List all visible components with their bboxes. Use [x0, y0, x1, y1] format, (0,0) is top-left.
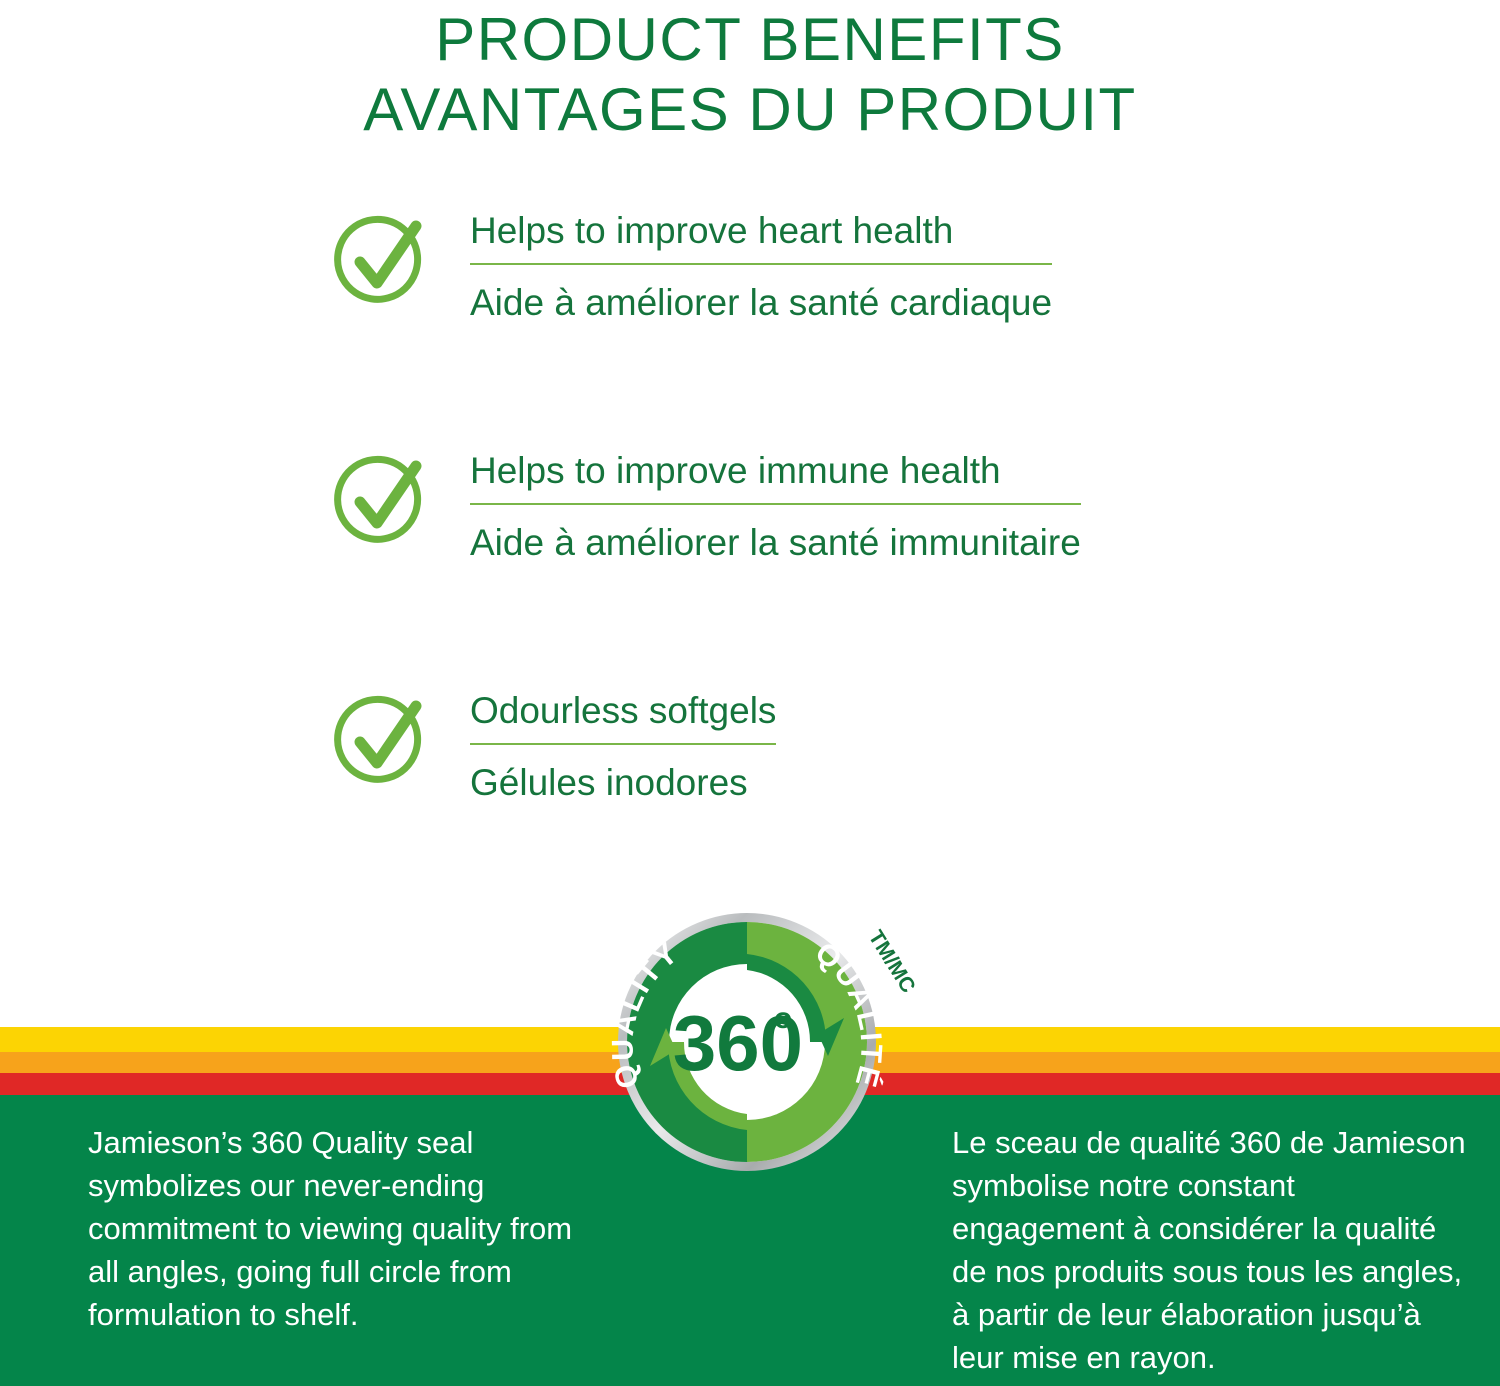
check-circle-icon	[330, 690, 435, 795]
benefit-label-en: Odourless softgels	[470, 685, 776, 739]
benefit-divider	[470, 743, 776, 745]
benefit-divider	[470, 263, 1052, 265]
page-title: PRODUCT BENEFITS AVANTAGES DU PRODUIT	[0, 0, 1500, 145]
title-french: AVANTAGES DU PRODUIT	[0, 75, 1500, 145]
benefit-label-fr: Gélules inodores	[470, 751, 776, 809]
benefit-label-en: Helps to improve immune health	[470, 445, 1081, 499]
quality-360-seal: QUALITY QUALITÉ 360 o TM/MC	[596, 910, 898, 1174]
check-circle-icon	[330, 210, 435, 315]
benefits-list: Helps to improve heart health Aide à amé…	[330, 205, 1430, 925]
product-benefits-infographic: PRODUCT BENEFITS AVANTAGES DU PRODUIT He…	[0, 0, 1500, 1386]
benefit-item: Helps to improve heart health Aide à amé…	[330, 205, 1430, 445]
benefit-label-en: Helps to improve heart health	[470, 205, 1052, 259]
benefit-text-block: Helps to improve immune health Aide à am…	[470, 445, 1081, 569]
check-circle-icon	[330, 450, 435, 555]
seal-degree-symbol: o	[774, 1002, 792, 1035]
title-english: PRODUCT BENEFITS	[0, 5, 1500, 75]
footer-paragraph-english: Jamieson’s 360 Quality seal symbolizes o…	[88, 1121, 608, 1336]
footer-paragraph-french: Le sceau de qualité 360 de Jamieson symb…	[952, 1121, 1472, 1379]
benefit-text-block: Helps to improve heart health Aide à amé…	[470, 205, 1052, 329]
benefit-label-fr: Aide à améliorer la santé cardiaque	[470, 271, 1052, 329]
benefit-divider	[470, 503, 1081, 505]
benefit-text-block: Odourless softgels Gélules inodores	[470, 685, 776, 809]
benefit-label-fr: Aide à améliorer la santé immunitaire	[470, 511, 1081, 569]
benefit-item: Odourless softgels Gélules inodores	[330, 685, 1430, 925]
benefit-item: Helps to improve immune health Aide à am…	[330, 445, 1430, 685]
